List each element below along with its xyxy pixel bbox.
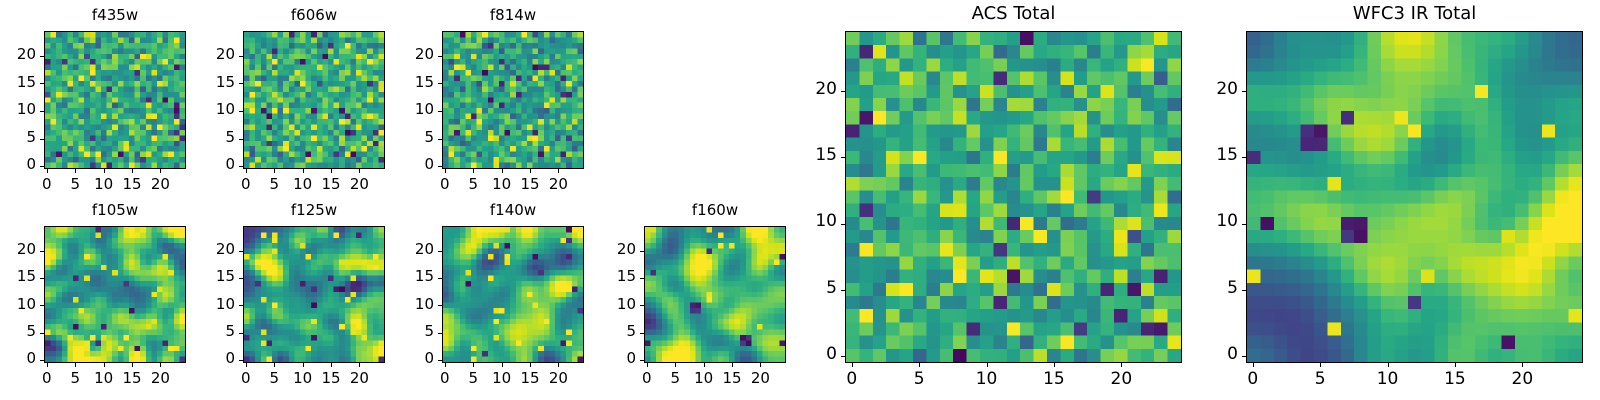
y-tick-mark [438, 111, 442, 112]
panel-title-f125w: f125w [243, 201, 385, 219]
y-tick-label: 20 [183, 240, 235, 258]
y-tick-mark [438, 278, 442, 279]
y-tick-label: 10 [382, 100, 434, 118]
y-tick-label: 10 [785, 211, 837, 231]
y-tick-mark [40, 278, 44, 279]
y-tick-mark [239, 56, 243, 57]
x-tick-mark [160, 363, 161, 367]
y-tick-mark [40, 360, 44, 361]
heatmap-image-acs-total [846, 32, 1181, 362]
y-tick-label: 15 [0, 73, 36, 91]
y-tick-label: 15 [785, 145, 837, 165]
panel-title-f160w: f160w [644, 201, 786, 219]
heatmap-image-f125w [244, 227, 384, 362]
x-tick-mark [359, 169, 360, 173]
y-tick-label: 5 [0, 322, 36, 340]
x-tick-label: 10 [957, 369, 1017, 389]
y-tick-label: 15 [382, 73, 434, 91]
x-tick-mark [160, 169, 161, 173]
heatmap-axes-f814w [442, 31, 584, 169]
y-tick-mark [239, 166, 243, 167]
x-tick-mark [445, 363, 446, 367]
x-tick-label: 15 [1425, 369, 1485, 389]
y-tick-label: 20 [183, 45, 235, 63]
x-tick-mark [1388, 363, 1389, 367]
y-tick-mark [841, 356, 845, 357]
y-tick-mark [239, 333, 243, 334]
heatmap-image-f606w [244, 32, 384, 168]
y-tick-label: 0 [785, 344, 837, 364]
y-tick-mark [640, 360, 644, 361]
y-tick-label: 5 [183, 322, 235, 340]
x-tick-mark [132, 363, 133, 367]
x-tick-mark [246, 169, 247, 173]
x-tick-mark [75, 169, 76, 173]
y-tick-label: 15 [1186, 145, 1238, 165]
heatmap-axes-f125w [243, 226, 385, 363]
x-tick-mark [558, 169, 559, 173]
y-tick-mark [841, 91, 845, 92]
x-tick-mark [104, 169, 105, 173]
x-tick-mark [1522, 363, 1523, 367]
y-tick-label: 5 [183, 128, 235, 146]
y-tick-label: 5 [382, 128, 434, 146]
y-tick-label: 0 [183, 349, 235, 367]
y-tick-mark [40, 305, 44, 306]
y-tick-mark [40, 333, 44, 334]
y-tick-label: 20 [382, 45, 434, 63]
x-tick-mark [530, 363, 531, 367]
y-tick-label: 10 [1186, 211, 1238, 231]
y-tick-mark [40, 251, 44, 252]
y-tick-label: 0 [382, 349, 434, 367]
heatmap-image-wfc3-ir-total [1247, 32, 1582, 362]
y-tick-label: 20 [0, 45, 36, 63]
x-tick-mark [675, 363, 676, 367]
y-tick-mark [841, 157, 845, 158]
y-tick-mark [438, 333, 442, 334]
heatmap-image-f814w [443, 32, 583, 168]
heatmap-image-f140w [443, 227, 583, 362]
panel-title-f435w: f435w [44, 6, 186, 24]
y-tick-mark [1242, 157, 1246, 158]
y-tick-mark [1242, 290, 1246, 291]
y-tick-label: 10 [0, 295, 36, 313]
x-tick-mark [1455, 363, 1456, 367]
x-tick-mark [919, 363, 920, 367]
x-tick-mark [987, 363, 988, 367]
x-tick-mark [1054, 363, 1055, 367]
y-tick-label: 0 [382, 155, 434, 173]
x-tick-mark [558, 363, 559, 367]
y-tick-mark [239, 83, 243, 84]
y-tick-label: 20 [382, 240, 434, 258]
y-tick-label: 20 [0, 240, 36, 258]
x-tick-label: 20 [1492, 369, 1552, 389]
heatmap-image-f435w [45, 32, 185, 168]
y-tick-mark [40, 166, 44, 167]
y-tick-mark [1242, 91, 1246, 92]
y-tick-label: 20 [584, 240, 636, 258]
heatmap-axes-f160w [644, 226, 786, 363]
y-tick-label: 10 [183, 295, 235, 313]
y-tick-mark [40, 83, 44, 84]
figure-canvas: f435w0510152005101520f606w05101520051015… [0, 0, 1600, 400]
y-tick-label: 5 [0, 128, 36, 146]
heatmap-image-f105w [45, 227, 185, 362]
y-tick-label: 15 [584, 267, 636, 285]
y-tick-label: 15 [0, 267, 36, 285]
y-tick-label: 5 [785, 278, 837, 298]
y-tick-label: 20 [1186, 79, 1238, 99]
y-tick-label: 0 [0, 349, 36, 367]
x-tick-mark [473, 169, 474, 173]
y-tick-mark [40, 139, 44, 140]
panel-title-acs-total: ACS Total [845, 3, 1182, 24]
y-tick-mark [239, 111, 243, 112]
x-tick-mark [303, 363, 304, 367]
y-tick-label: 5 [1186, 278, 1238, 298]
x-tick-mark [47, 363, 48, 367]
y-tick-mark [438, 305, 442, 306]
x-tick-label: 5 [889, 369, 949, 389]
x-tick-label: 20 [528, 369, 588, 387]
x-tick-mark [530, 169, 531, 173]
x-tick-label: 15 [1024, 369, 1084, 389]
y-tick-mark [438, 360, 442, 361]
y-tick-mark [438, 139, 442, 140]
y-tick-mark [239, 278, 243, 279]
y-tick-mark [640, 305, 644, 306]
x-tick-label: 20 [130, 175, 190, 193]
x-tick-mark [274, 363, 275, 367]
x-tick-mark [445, 169, 446, 173]
x-tick-mark [359, 363, 360, 367]
y-tick-label: 15 [183, 267, 235, 285]
y-tick-mark [239, 139, 243, 140]
y-tick-label: 0 [1186, 344, 1238, 364]
x-tick-mark [331, 363, 332, 367]
panel-title-f606w: f606w [243, 6, 385, 24]
x-tick-mark [303, 169, 304, 173]
x-tick-label: 10 [1358, 369, 1418, 389]
y-tick-label: 5 [382, 322, 434, 340]
x-tick-label: 0 [822, 369, 882, 389]
x-tick-mark [104, 363, 105, 367]
heatmap-axes-f606w [243, 31, 385, 169]
y-tick-label: 20 [785, 79, 837, 99]
x-tick-mark [732, 363, 733, 367]
y-tick-mark [438, 166, 442, 167]
y-tick-mark [841, 224, 845, 225]
x-tick-label: 20 [130, 369, 190, 387]
y-tick-mark [40, 56, 44, 57]
x-tick-mark [1320, 363, 1321, 367]
panel-title-f140w: f140w [442, 201, 584, 219]
x-tick-mark [246, 363, 247, 367]
y-tick-label: 15 [183, 73, 235, 91]
y-tick-mark [239, 360, 243, 361]
heatmap-axes-f140w [442, 226, 584, 363]
panel-title-f814w: f814w [442, 6, 584, 24]
y-tick-mark [438, 56, 442, 57]
y-tick-label: 10 [0, 100, 36, 118]
y-tick-label: 10 [584, 295, 636, 313]
y-tick-label: 0 [0, 155, 36, 173]
x-tick-mark [75, 363, 76, 367]
y-tick-mark [640, 251, 644, 252]
heatmap-image-f160w [645, 227, 785, 362]
heatmap-axes-f105w [44, 226, 186, 363]
panel-title-f105w: f105w [44, 201, 186, 219]
y-tick-mark [1242, 224, 1246, 225]
x-tick-mark [760, 363, 761, 367]
x-tick-mark [132, 169, 133, 173]
x-tick-mark [47, 169, 48, 173]
x-tick-mark [1253, 363, 1254, 367]
y-tick-mark [239, 251, 243, 252]
x-tick-label: 20 [1091, 369, 1151, 389]
y-tick-mark [1242, 356, 1246, 357]
x-tick-mark [502, 363, 503, 367]
x-tick-label: 20 [329, 369, 389, 387]
x-tick-label: 20 [528, 175, 588, 193]
x-tick-mark [331, 169, 332, 173]
x-tick-mark [274, 169, 275, 173]
y-tick-mark [438, 83, 442, 84]
y-tick-label: 0 [584, 349, 636, 367]
y-tick-label: 0 [183, 155, 235, 173]
x-tick-mark [473, 363, 474, 367]
heatmap-axes-acs-total [845, 31, 1182, 363]
x-tick-mark [502, 169, 503, 173]
x-tick-label: 0 [1223, 369, 1283, 389]
y-tick-mark [40, 111, 44, 112]
y-tick-mark [841, 290, 845, 291]
y-tick-mark [239, 305, 243, 306]
x-tick-label: 20 [730, 369, 790, 387]
heatmap-axes-f435w [44, 31, 186, 169]
x-tick-mark [852, 363, 853, 367]
x-tick-mark [704, 363, 705, 367]
panel-title-wfc3-ir-total: WFC3 IR Total [1246, 3, 1583, 24]
x-tick-mark [1121, 363, 1122, 367]
x-tick-label: 5 [1290, 369, 1350, 389]
y-tick-label: 10 [183, 100, 235, 118]
x-tick-mark [647, 363, 648, 367]
x-tick-label: 20 [329, 175, 389, 193]
heatmap-axes-wfc3-ir-total [1246, 31, 1583, 363]
y-tick-label: 10 [382, 295, 434, 313]
y-tick-mark [640, 278, 644, 279]
y-tick-label: 15 [382, 267, 434, 285]
y-tick-mark [640, 333, 644, 334]
y-tick-mark [438, 251, 442, 252]
y-tick-label: 5 [584, 322, 636, 340]
